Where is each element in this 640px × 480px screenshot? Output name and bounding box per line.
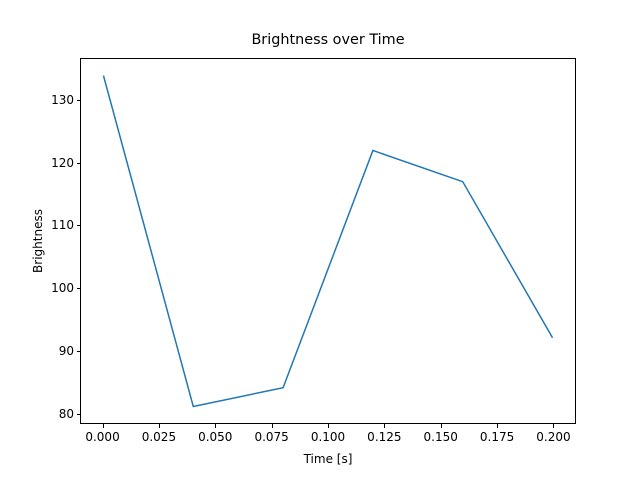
y-tick-mark [77, 288, 81, 289]
x-tick-label: 0.025 [142, 430, 176, 444]
x-tick-mark [553, 424, 554, 428]
y-axis-label: Brightness [28, 58, 48, 424]
x-tick-mark [384, 424, 385, 428]
line-chart-svg [81, 59, 575, 423]
y-tick-mark [77, 163, 81, 164]
x-tick-mark [215, 424, 216, 428]
x-tick-mark [103, 424, 104, 428]
x-tick-mark [497, 424, 498, 428]
plot-axes-area [80, 58, 576, 424]
x-tick-mark [328, 424, 329, 428]
y-tick-mark [77, 225, 81, 226]
x-tick-mark [159, 424, 160, 428]
x-tick-label: 0.200 [536, 430, 570, 444]
chart-figure: Brightness over Time 0.0000.0250.0500.07… [0, 0, 640, 480]
x-tick-mark [272, 424, 273, 428]
x-tick-mark [441, 424, 442, 428]
y-tick-mark [77, 100, 81, 101]
x-tick-label: 0.150 [424, 430, 458, 444]
x-tick-label: 0.175 [480, 430, 514, 444]
x-tick-label: 0.050 [198, 430, 232, 444]
x-axis-label: Time [s] [80, 452, 576, 466]
x-tick-label: 0.000 [85, 430, 119, 444]
y-tick-mark [77, 351, 81, 352]
x-tick-label: 0.125 [367, 430, 401, 444]
y-tick-mark [77, 414, 81, 415]
x-tick-label: 0.100 [311, 430, 345, 444]
chart-title: Brightness over Time [80, 32, 576, 48]
brightness-line-series [103, 76, 552, 407]
x-tick-label: 0.075 [254, 430, 288, 444]
